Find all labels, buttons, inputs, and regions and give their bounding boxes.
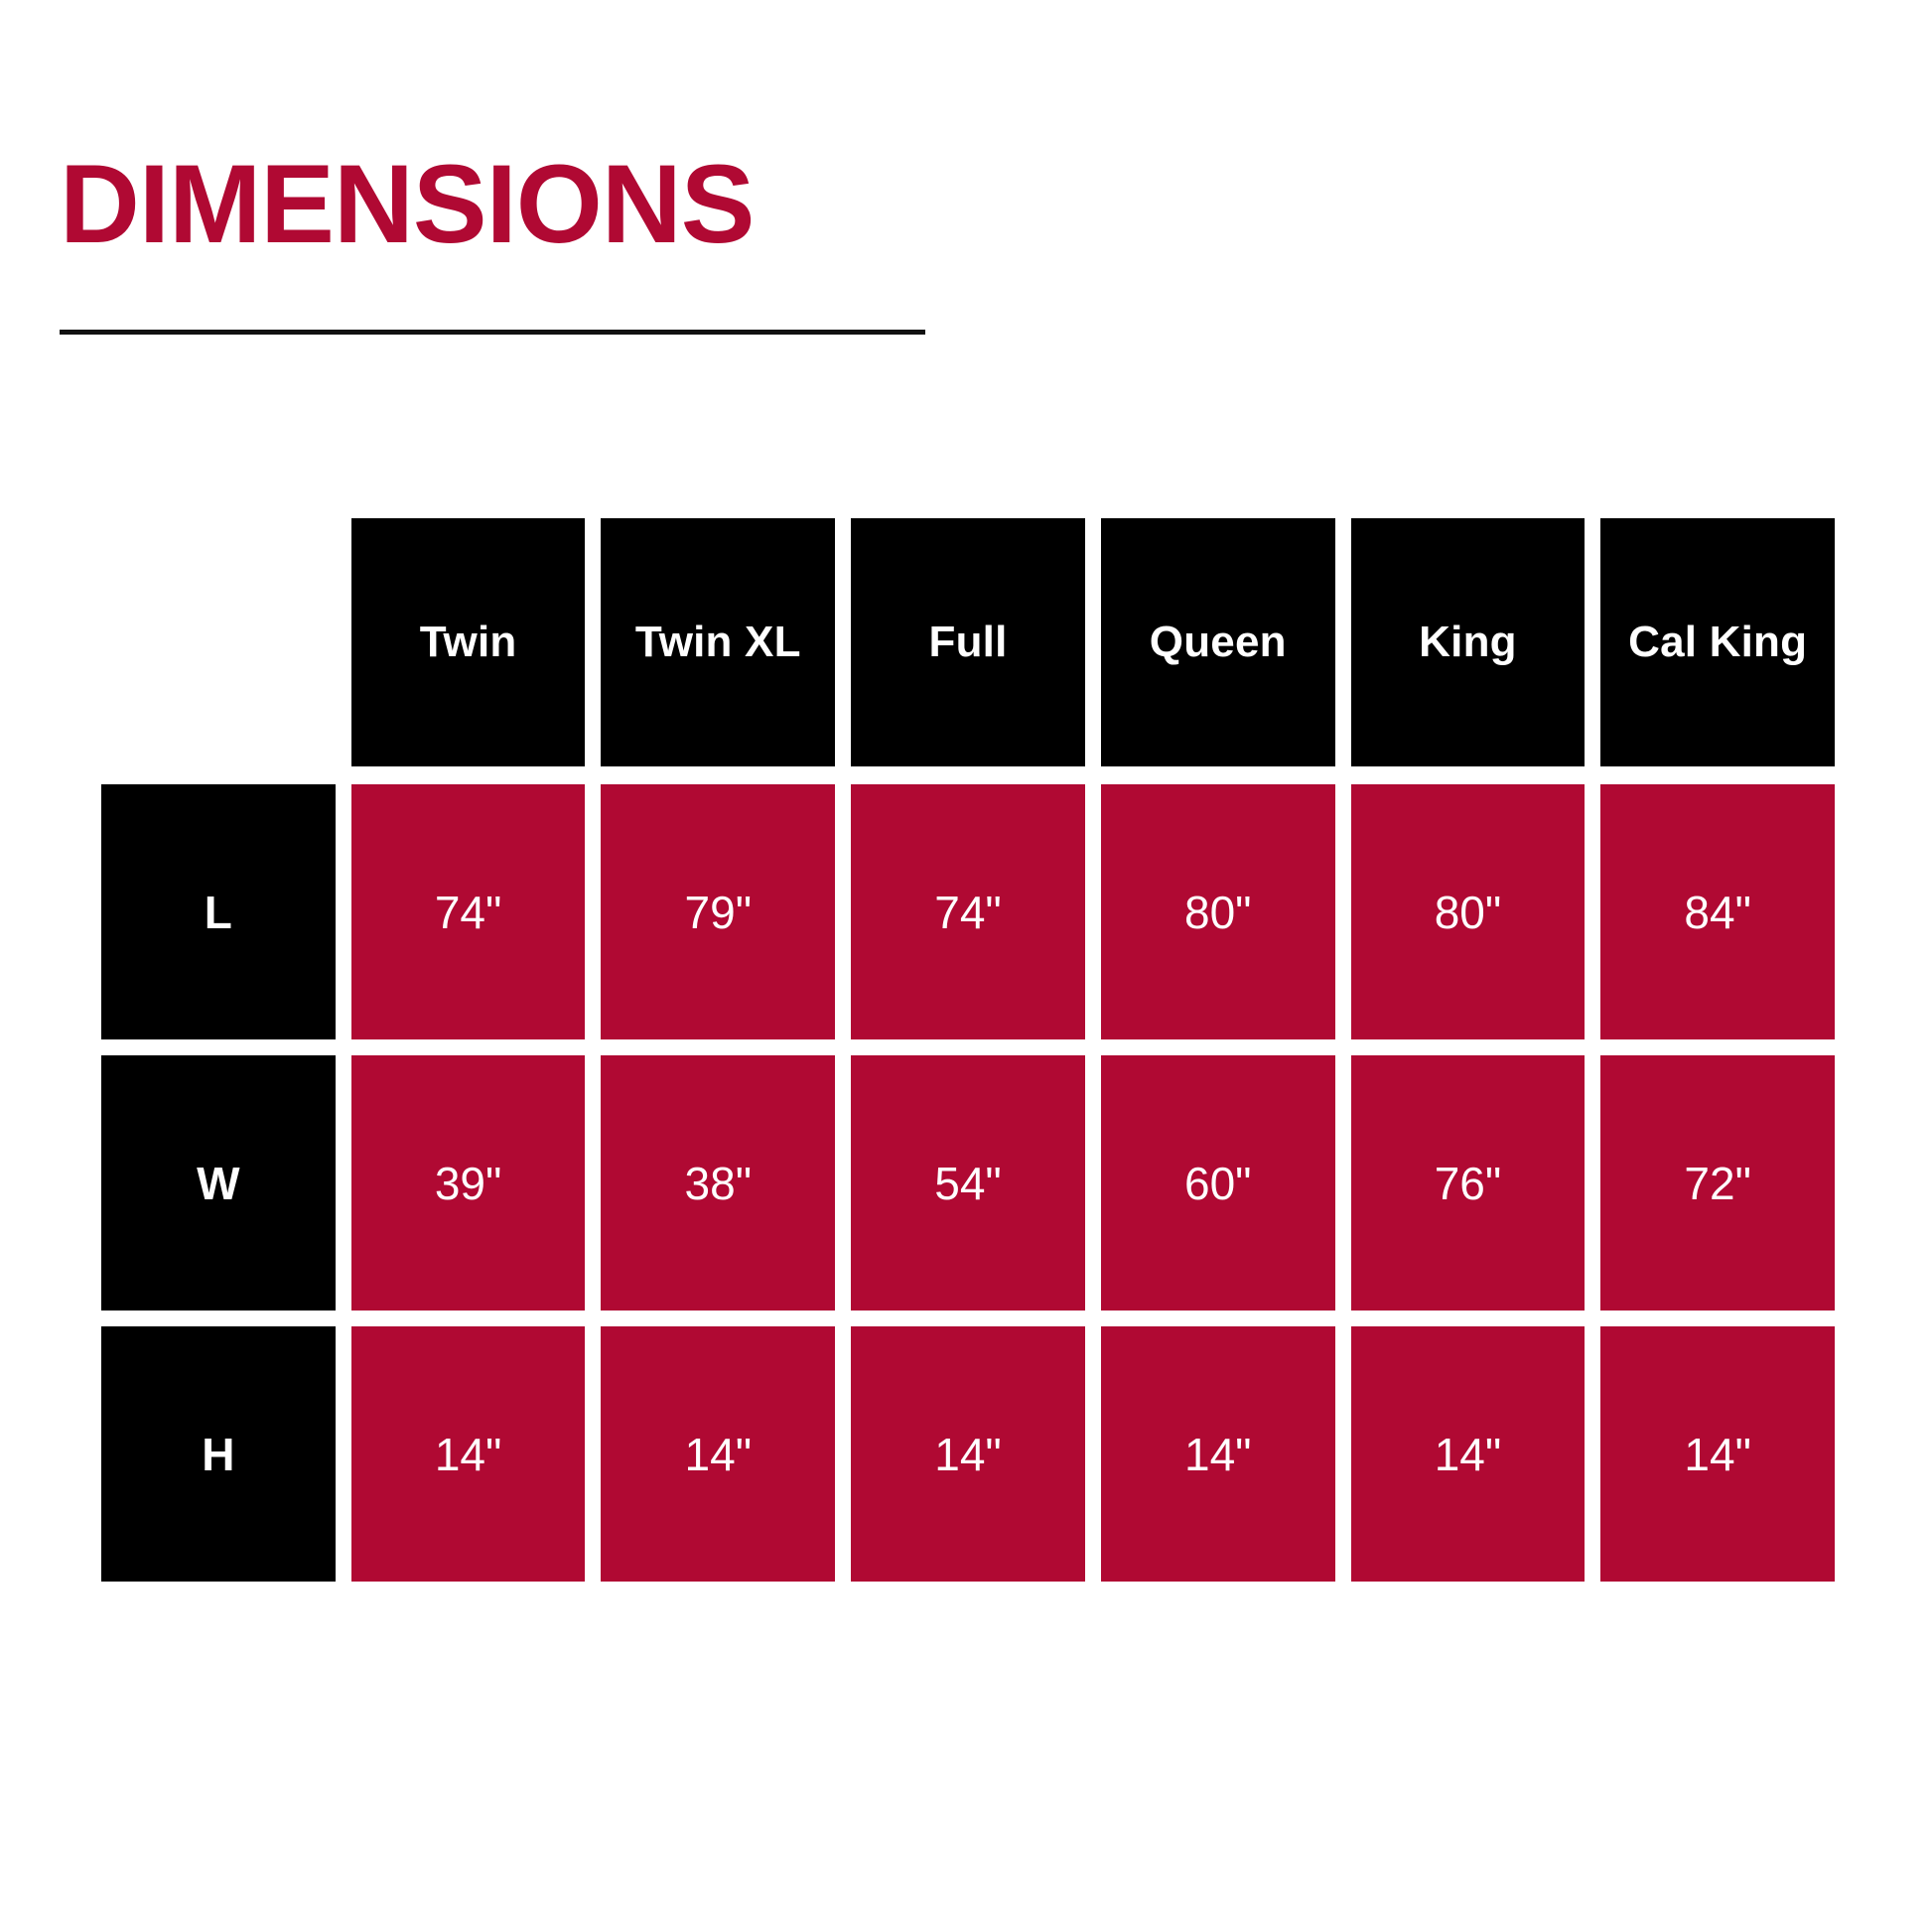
column-header-twin: Twin	[351, 518, 586, 766]
cell-h-twin: 14"	[351, 1326, 586, 1582]
title-underline-rule	[60, 330, 925, 335]
column-header-queen: Queen	[1101, 518, 1335, 766]
table-row-height: H 14" 14" 14" 14" 14" 14"	[101, 1326, 1835, 1582]
table-row-length: L 74" 79" 74" 80" 80" 84"	[101, 784, 1835, 1039]
cell-l-queen: 80"	[1101, 784, 1335, 1039]
dimensions-table: Twin Twin XL Full Queen King Cal King L …	[101, 518, 1835, 1582]
row-label-l: L	[101, 784, 336, 1039]
column-header-cal-king: Cal King	[1600, 518, 1835, 766]
title-block: DIMENSIONS	[60, 149, 933, 260]
page-title: DIMENSIONS	[60, 149, 933, 260]
cell-w-twin: 39"	[351, 1055, 586, 1311]
column-header-king: King	[1351, 518, 1586, 766]
row-label-w: W	[101, 1055, 336, 1311]
column-header-full: Full	[851, 518, 1085, 766]
cell-l-twin: 74"	[351, 784, 586, 1039]
cell-w-full: 54"	[851, 1055, 1085, 1311]
cell-l-full: 74"	[851, 784, 1085, 1039]
cell-l-king: 80"	[1351, 784, 1586, 1039]
cell-w-cal-king: 72"	[1600, 1055, 1835, 1311]
cell-l-twin-xl: 79"	[601, 784, 835, 1039]
table-row-width: W 39" 38" 54" 60" 76" 72"	[101, 1055, 1835, 1311]
cell-h-twin-xl: 14"	[601, 1326, 835, 1582]
cell-h-queen: 14"	[1101, 1326, 1335, 1582]
cell-w-king: 76"	[1351, 1055, 1586, 1311]
cell-h-cal-king: 14"	[1600, 1326, 1835, 1582]
cell-h-full: 14"	[851, 1326, 1085, 1582]
column-header-twin-xl: Twin XL	[601, 518, 835, 766]
row-label-h: H	[101, 1326, 336, 1582]
cell-h-king: 14"	[1351, 1326, 1586, 1582]
cell-w-twin-xl: 38"	[601, 1055, 835, 1311]
table-corner-cell	[101, 518, 336, 766]
cell-w-queen: 60"	[1101, 1055, 1335, 1311]
cell-l-cal-king: 84"	[1600, 784, 1835, 1039]
table-header-row: Twin Twin XL Full Queen King Cal King	[101, 518, 1835, 766]
